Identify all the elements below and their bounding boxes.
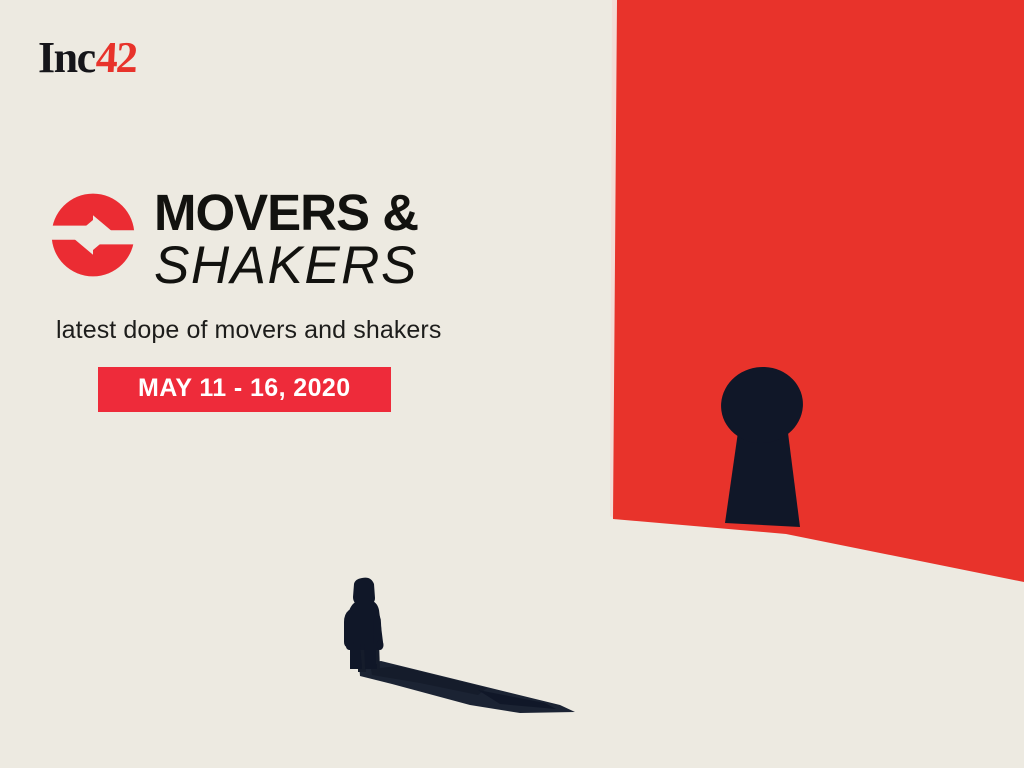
masthead-title-line1: MOVERS & [154, 188, 418, 237]
masthead-tagline: latest dope of movers and shakers [56, 316, 566, 345]
date-range-badge: MAY 11 - 16, 2020 [98, 367, 391, 412]
masthead-title-row: MOVERS & SHAKERS [46, 186, 566, 294]
man-shoe-right [365, 664, 377, 669]
man-shoe-left [350, 664, 362, 669]
masthead-title-stack: MOVERS & SHAKERS [154, 186, 418, 294]
man-leg-right [364, 644, 376, 667]
red-wall-panel [613, 0, 1024, 582]
inc42-logo[interactable]: Inc 42 [38, 36, 136, 80]
swap-arrows-icon [46, 188, 140, 282]
masthead: MOVERS & SHAKERS latest dope of movers a… [46, 186, 566, 412]
masthead-title-line2: SHAKERS [154, 239, 418, 293]
inc42-logo-word-red: 42 [94, 36, 136, 80]
inc42-logo-word-black: Inc [38, 36, 95, 80]
man-leg-left [350, 644, 362, 667]
poster-canvas: Inc 42 MOVERS & SHAKERS latest dope of m… [0, 0, 1024, 768]
man-hand [377, 640, 384, 650]
man-arm-left [344, 610, 354, 647]
